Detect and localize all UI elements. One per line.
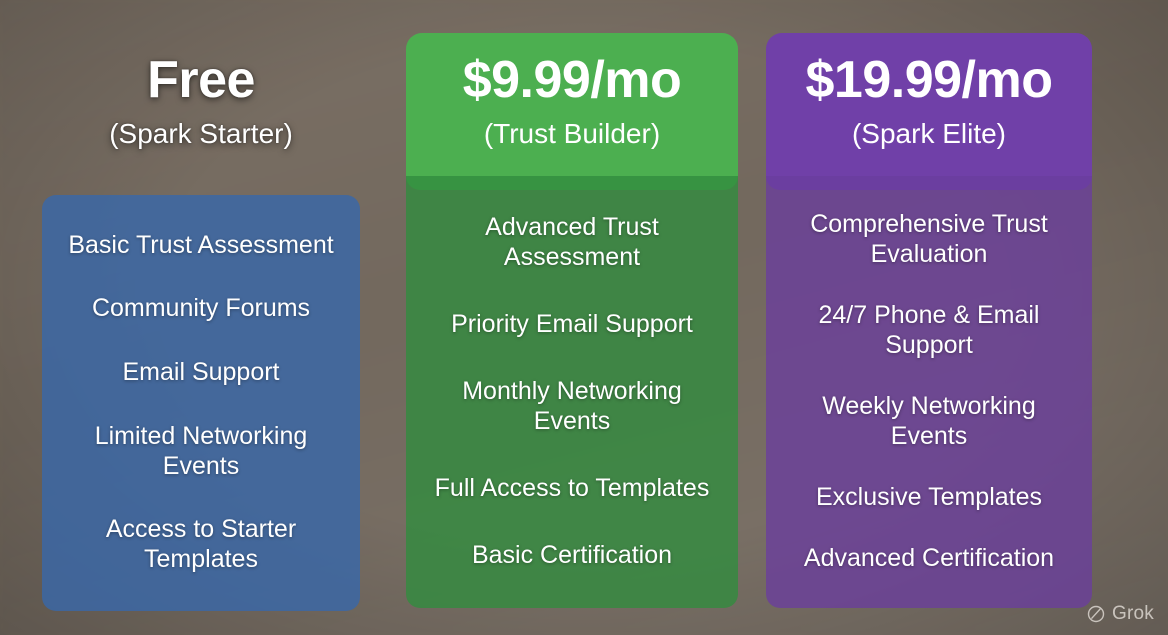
grok-logo-icon xyxy=(1086,604,1106,624)
plan-name-free: (Spark Starter) xyxy=(42,119,360,150)
feature-item: Limited Networking Events xyxy=(56,404,346,498)
feature-item: Exclusive Templates xyxy=(780,466,1078,527)
feature-item: Monthly Networking Events xyxy=(420,358,724,455)
feature-item: Advanced Trust Assessment xyxy=(420,194,724,291)
feature-item: 24/7 Phone & Email Support xyxy=(780,285,1078,376)
plan-price-trust-builder: $9.99/mo xyxy=(406,54,738,107)
plan-price-free: Free xyxy=(42,54,360,107)
feature-item: Weekly Networking Events xyxy=(780,376,1078,467)
feature-item: Community Forums xyxy=(56,277,346,341)
grok-watermark: Grok xyxy=(1086,603,1154,625)
plan-header-free: Free (Spark Starter) xyxy=(42,0,360,150)
feature-item: Basic Trust Assessment xyxy=(56,213,346,277)
feature-item: Comprehensive Trust Evaluation xyxy=(780,194,1078,285)
feature-item: Advanced Certification xyxy=(780,527,1078,588)
pricing-comparison-graphic: Free (Spark Starter) Basic Trust Assessm… xyxy=(0,0,1168,635)
plan-price-spark-elite: $19.99/mo xyxy=(766,54,1092,107)
plan-column-spark-elite[interactable]: $19.99/mo (Spark Elite) Comprehensive Tr… xyxy=(766,0,1092,635)
plan-column-trust-builder[interactable]: $9.99/mo (Trust Builder) Advanced Trust … xyxy=(406,0,738,635)
grok-watermark-label: Grok xyxy=(1112,603,1154,625)
feature-item: Priority Email Support xyxy=(420,291,724,358)
plan-header-trust-builder: $9.99/mo (Trust Builder) xyxy=(406,0,738,150)
feature-item: Access to Starter Templates xyxy=(56,497,346,591)
feature-item: Basic Certification xyxy=(420,521,724,588)
plan-header-spark-elite: $19.99/mo (Spark Elite) xyxy=(766,0,1092,150)
feature-item: Full Access to Templates xyxy=(420,454,724,521)
plan-name-trust-builder: (Trust Builder) xyxy=(406,119,738,150)
feature-item: Email Support xyxy=(56,340,346,404)
plan-name-spark-elite: (Spark Elite) xyxy=(766,119,1092,150)
plan-feature-card-spark-elite: Comprehensive Trust Evaluation 24/7 Phon… xyxy=(766,176,1092,608)
plan-feature-card-free: Basic Trust Assessment Community Forums … xyxy=(42,195,360,611)
plan-column-free[interactable]: Free (Spark Starter) Basic Trust Assessm… xyxy=(42,0,360,635)
plan-feature-card-trust-builder: Advanced Trust Assessment Priority Email… xyxy=(406,176,738,608)
